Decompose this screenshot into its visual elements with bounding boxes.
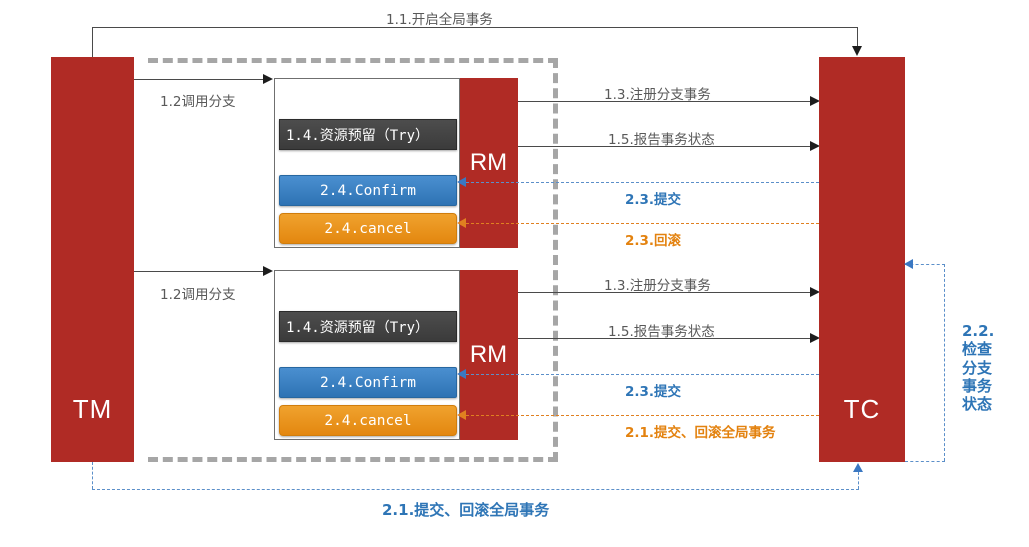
op-cancel-2[interactable]: 2.4.cancel	[279, 405, 457, 436]
msg-2-2-label-line-4: 事务	[962, 377, 1006, 395]
rm-label-1: RM	[470, 149, 507, 177]
msg-1-5a-label: 1.5.报告事务状态	[608, 128, 715, 148]
msg-1-1-label: 1.1.开启全局事务	[386, 8, 493, 28]
rm-label-2: RM	[470, 341, 507, 369]
msg-2-3c-arrowhead	[457, 369, 466, 379]
op-try-2[interactable]: 1.4.资源预留（Try）	[279, 311, 457, 342]
msg-2-1-label: 2.1.提交、回滚全局事务	[382, 499, 549, 520]
msg-2-2-label-line-5: 状态	[962, 395, 1006, 413]
msg-2-3a-label: 2.3.提交	[625, 188, 681, 208]
msg-2-1-vertical-left	[92, 462, 93, 489]
msg-2-3b-arrowhead	[457, 218, 466, 228]
msg-2-3b-line	[466, 223, 819, 224]
msg-2-3a-line	[466, 182, 819, 183]
msg-2-1-vertical-right	[858, 472, 859, 489]
op-confirm-1[interactable]: 2.4.Confirm	[279, 175, 457, 206]
msg-1-1-arrowhead	[852, 46, 862, 56]
msg-2-2-bottom-line	[905, 461, 945, 462]
msg-2-3b-label: 2.3.回滚	[625, 229, 681, 249]
op-cancel-1[interactable]: 2.4.cancel	[279, 213, 457, 244]
msg-2-2-label-line-2: 检查	[962, 340, 1006, 358]
op-confirm-2[interactable]: 2.4.Confirm	[279, 367, 457, 398]
msg-1-5b-label: 1.5.报告事务状态	[608, 320, 715, 340]
msg-2-2-arrowhead	[904, 259, 913, 269]
msg-1-2a-arrowhead	[263, 74, 273, 84]
actor-tc-label: TC	[844, 394, 881, 425]
msg-2-2-label-line-1: 2.2.	[962, 322, 1006, 340]
msg-2-1-arrowhead	[853, 463, 863, 472]
actor-tm: TM	[51, 57, 134, 462]
msg-2-3d-label: 2.1.提交、回滚全局事务	[625, 421, 776, 441]
msg-2-3d-arrowhead	[457, 410, 466, 420]
msg-1-3b-label: 1.3.注册分支事务	[604, 274, 711, 294]
msg-2-3a-arrowhead	[457, 177, 466, 187]
rm-panel-2: 1.4.资源预留（Try） 2.4.Confirm 2.4.cancel	[274, 270, 460, 440]
msg-2-2-vertical	[944, 264, 945, 461]
sequence-diagram: 1.1.开启全局事务 1.2调用分支 1.2调用分支 RM 1.4.资源预留（T…	[0, 0, 1029, 547]
msg-1-1-vertical-up	[92, 27, 93, 58]
actor-tc: TC	[819, 57, 905, 462]
msg-1-3a-label: 1.3.注册分支事务	[604, 83, 711, 103]
msg-1-2a-label: 1.2调用分支	[160, 90, 235, 110]
msg-1-1-vertical-down	[857, 27, 858, 48]
msg-2-1-horizontal	[92, 489, 859, 490]
msg-1-2b-arrowhead	[263, 266, 273, 276]
msg-2-2-label: 2.2. 检查 分支 事务 状态	[962, 322, 1006, 413]
msg-2-3d-line	[466, 415, 819, 416]
actor-tm-label: TM	[73, 394, 113, 425]
msg-2-3c-line	[466, 374, 819, 375]
msg-2-3c-label: 2.3.提交	[625, 380, 681, 400]
msg-1-2a-line	[134, 79, 265, 80]
msg-2-2-label-line-3: 分支	[962, 359, 1006, 377]
msg-1-2b-label: 1.2调用分支	[160, 283, 235, 303]
msg-1-2b-line	[134, 271, 265, 272]
op-try-1[interactable]: 1.4.资源预留（Try）	[279, 119, 457, 150]
rm-panel-1: 1.4.资源预留（Try） 2.4.Confirm 2.4.cancel	[274, 78, 460, 248]
